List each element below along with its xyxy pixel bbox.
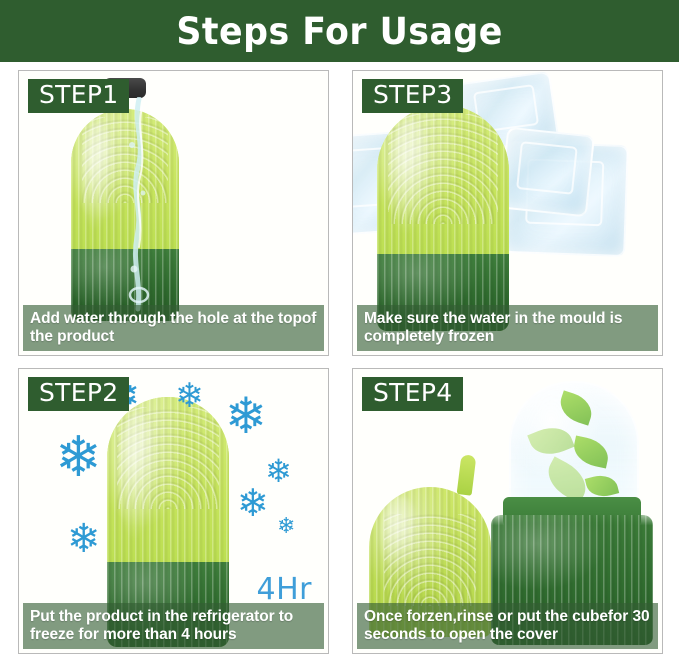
header-banner: Steps For Usage xyxy=(0,0,679,62)
timer-label: 4Hr xyxy=(257,572,312,607)
product-capsule xyxy=(71,109,179,321)
capsule-gloss xyxy=(117,412,158,542)
snowflake-icon: ❄ xyxy=(277,515,295,537)
page-title: Steps For Usage xyxy=(176,13,502,50)
lid-gloss xyxy=(379,496,420,574)
product-capsule xyxy=(377,105,509,331)
step-badge-1: STEP1 xyxy=(28,79,129,113)
step-badge-3: STEP3 xyxy=(362,79,463,113)
ice-cube-icon xyxy=(499,127,595,218)
mint-leaf-icon xyxy=(527,421,575,462)
snowflake-icon: ❄ xyxy=(225,391,267,441)
panel-step1: STEP1 Add water through the hole at the … xyxy=(18,70,329,356)
mint-leaf-icon xyxy=(556,390,596,425)
caption-step2: Put the product in the refrigerator to f… xyxy=(23,603,324,649)
step-badge-2: STEP2 xyxy=(28,377,129,411)
panel-step2: ❄ ❄ ❄ ❄ ❄ ❄ ❄ ❄ 4Hr STEP2 Put the produc… xyxy=(18,368,329,654)
step-badge-4: STEP4 xyxy=(362,377,463,411)
steps-grid: STEP1 Add water through the hole at the … xyxy=(18,70,663,654)
panel-step4: STEP4 Once forzen,rinse or put the cubef… xyxy=(352,368,663,654)
snowflake-icon: ❄ xyxy=(237,485,269,523)
snowflake-icon: ❄ xyxy=(265,455,292,487)
steps-for-usage-infographic: Steps For Usage xyxy=(0,0,679,662)
mint-leaf-icon xyxy=(571,436,612,469)
mint-leaf-icon xyxy=(585,472,619,501)
snowflake-icon: ❄ xyxy=(67,519,101,559)
caption-step1: Add water through the hole at the topof … xyxy=(23,305,324,351)
caption-step3: Make sure the water in the mould is comp… xyxy=(357,305,658,351)
panel-step3: STEP3 Make sure the water in the mould i… xyxy=(352,70,663,356)
snowflake-icon: ❄ xyxy=(55,429,102,485)
snowflake-icon: ❄ xyxy=(175,379,204,413)
caption-step4: Once forzen,rinse or put the cubefor 30 … xyxy=(357,603,658,649)
capsule-gloss xyxy=(388,119,433,237)
capsule-gloss xyxy=(80,122,117,232)
